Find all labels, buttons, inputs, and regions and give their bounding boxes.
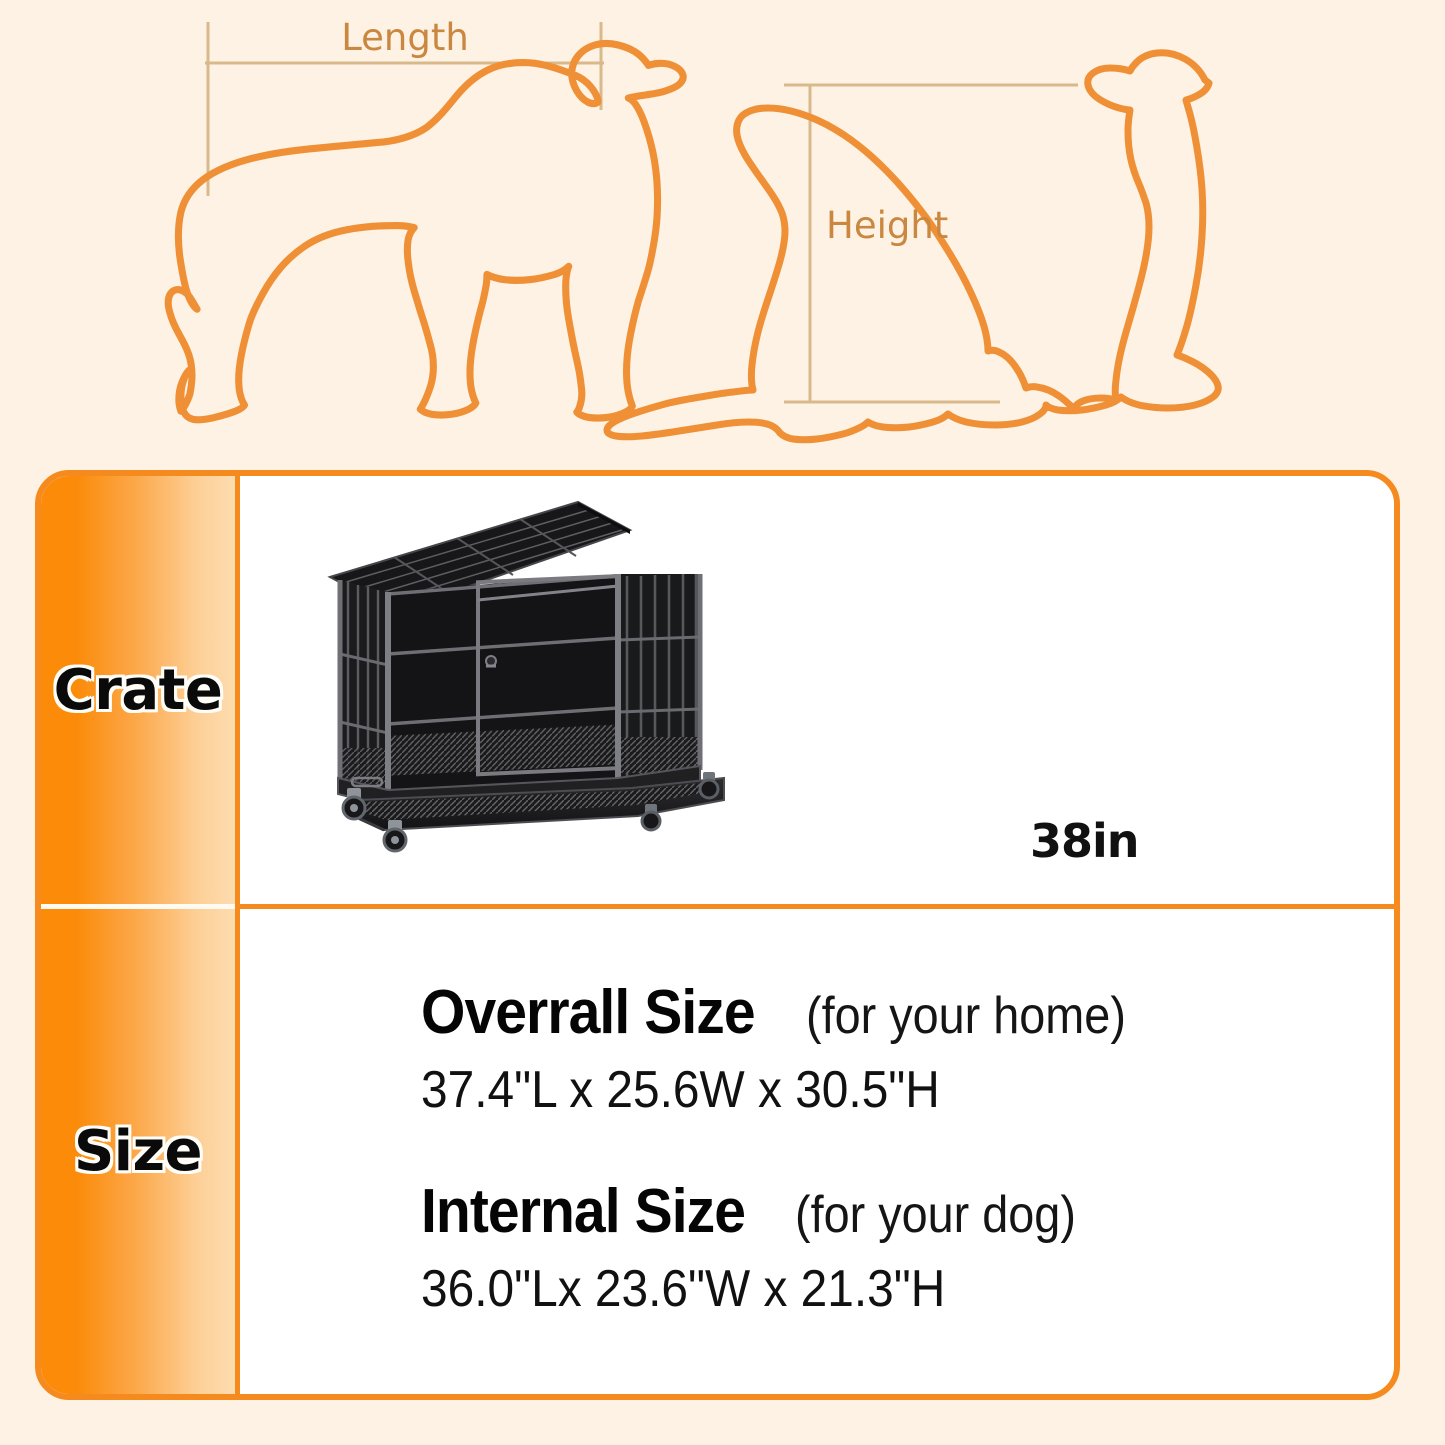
standing-dog-silhouette — [168, 43, 683, 419]
internal-size-heading: Internal Size — [421, 1176, 745, 1247]
overall-size-dimensions: 37.4"L x 25.6W x 30.5"H — [421, 1060, 1249, 1120]
crate-product-image — [300, 482, 740, 882]
crate-right-panel — [618, 574, 700, 782]
overall-size-group: Overrall Size (for your home) 37.4"L x 2… — [421, 977, 1321, 1120]
internal-size-subnote: (for your dog) — [795, 1185, 1076, 1245]
row-label-size: Size — [41, 904, 235, 1394]
dog-size-diagram: Length Height — [0, 0, 1445, 460]
length-label: Length — [341, 16, 469, 59]
row-label-crate: Crate — [41, 476, 235, 904]
row-label-size-text: Size — [74, 1119, 202, 1184]
height-label: Height — [826, 204, 948, 247]
row-content-crate: 38in — [235, 476, 1394, 904]
internal-size-dimensions: 36.0"Lx 23.6"W x 21.3"H — [421, 1259, 1249, 1319]
row-content-size: Overrall Size (for your home) 37.4"L x 2… — [235, 909, 1394, 1394]
overall-size-heading: Overrall Size — [421, 977, 755, 1048]
row-label-crate-text: Crate — [54, 658, 223, 723]
crate-left-panel — [340, 580, 388, 794]
spec-card: Crate — [35, 470, 1400, 1400]
size-specifications: Overrall Size (for your home) 37.4"L x 2… — [421, 977, 1321, 1319]
overall-size-subnote: (for your home) — [806, 986, 1126, 1046]
table-row-crate: Crate — [41, 476, 1394, 904]
crate-front-face — [388, 574, 618, 794]
internal-size-group: Internal Size (for your dog) 36.0"Lx 23.… — [421, 1176, 1321, 1319]
table-row-size: Size Overrall Size (for your home) 37.4"… — [41, 904, 1394, 1394]
crate-size-badge: 38in — [1030, 814, 1139, 868]
